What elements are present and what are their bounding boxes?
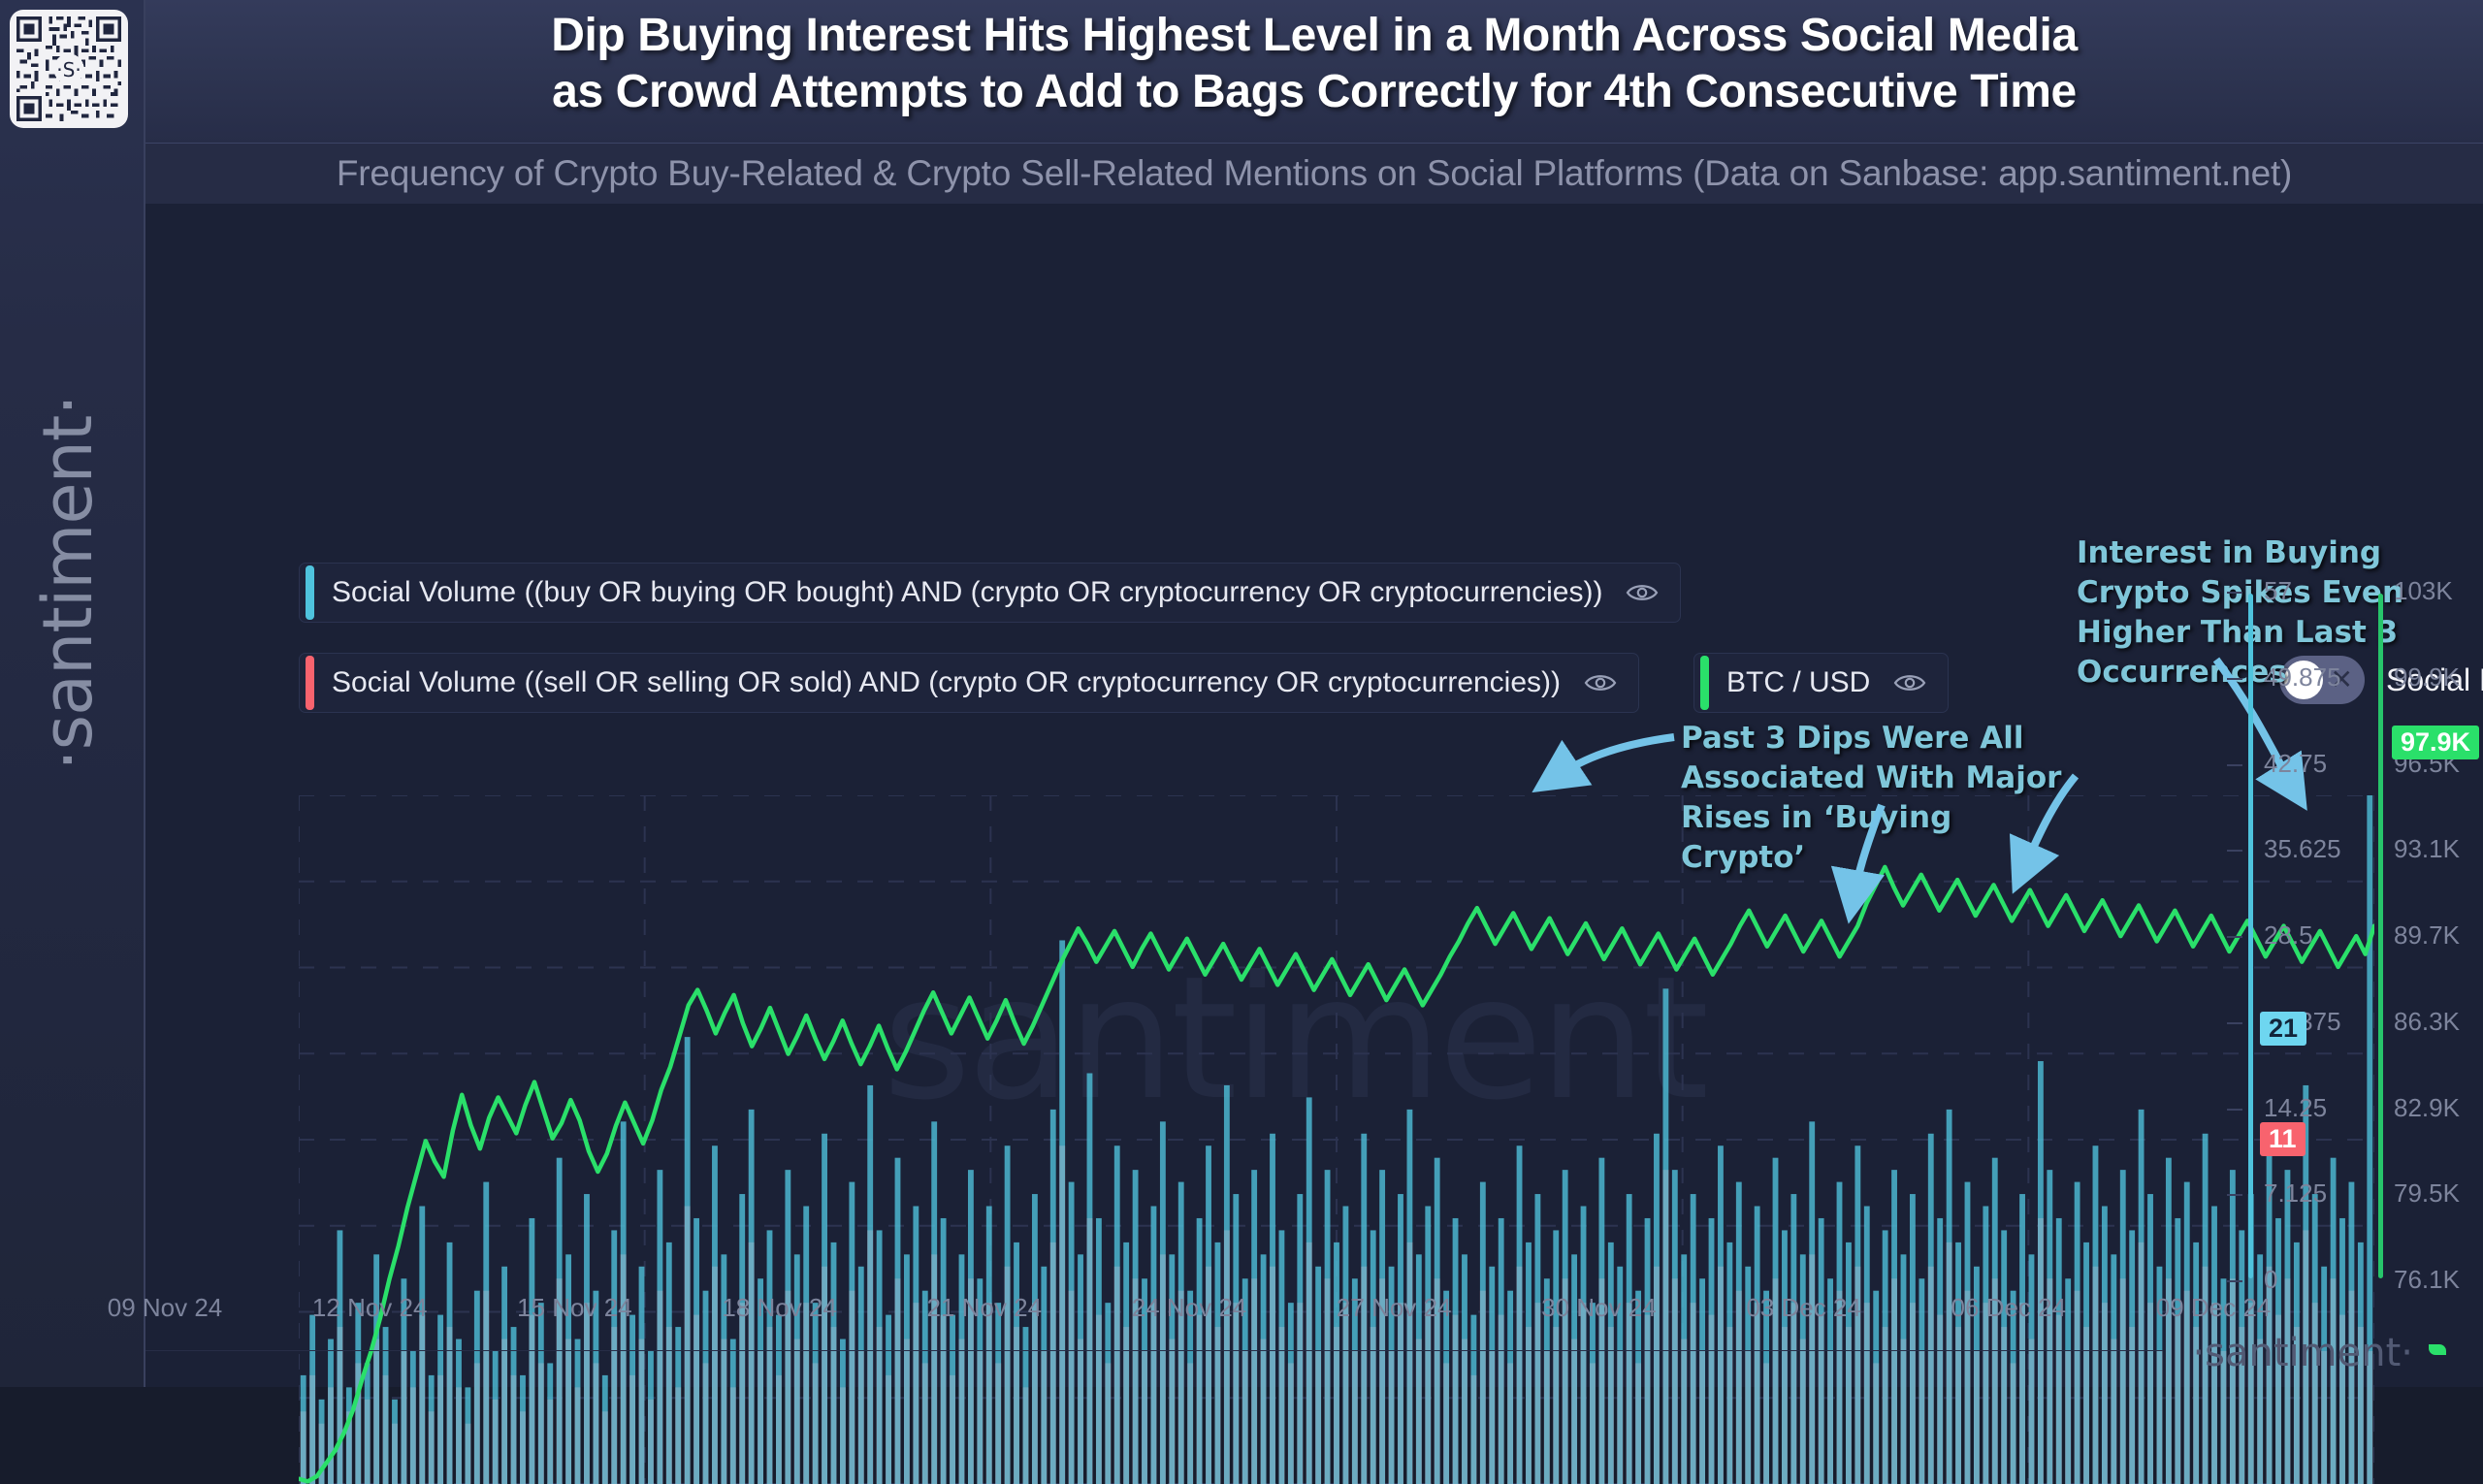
right-axis-tick: 86.3K [2394, 1007, 2460, 1037]
right-axis-tick: 76.1K [2394, 1265, 2460, 1295]
bar [877, 1230, 883, 1484]
bar [392, 1400, 398, 1484]
bar [1133, 1170, 1139, 1484]
bar [1526, 1242, 1532, 1484]
left-axis-line [2248, 594, 2253, 1278]
bar [1928, 1134, 1934, 1484]
bar [456, 1339, 462, 1484]
x-axis-tick: 12 Nov 24 [312, 1293, 428, 1323]
tick-mark [2227, 850, 2242, 852]
tick-mark [2227, 1109, 2242, 1111]
bar [767, 1230, 773, 1484]
bar [1846, 1242, 1852, 1484]
bar [1425, 1207, 1431, 1484]
bar [2147, 1194, 2153, 1484]
bar [1891, 1170, 1897, 1484]
bar [474, 1291, 480, 1484]
left-axis-tick: 28.5 [2264, 920, 2313, 951]
bar [1691, 1194, 1696, 1484]
bar [813, 1303, 819, 1484]
bar [2175, 1218, 2180, 1484]
bar [2367, 795, 2372, 1484]
santiment-leaf-icon [2429, 1344, 2446, 1355]
bar [1343, 1207, 1349, 1484]
bar [373, 1254, 379, 1484]
bar [1571, 1254, 1577, 1484]
bar [1534, 1194, 1540, 1484]
bar [1507, 1291, 1513, 1484]
bar [1288, 1303, 1294, 1484]
bar [1581, 1207, 1587, 1484]
bar [1782, 1230, 1788, 1484]
left-axis-tick: 49.875 [2264, 662, 2341, 693]
bar [1965, 1182, 1971, 1484]
bar [1370, 1230, 1376, 1484]
bar [1087, 1073, 1093, 1484]
x-axis-tick: 09 Nov 24 [108, 1293, 223, 1323]
bar [1105, 1303, 1111, 1484]
bar [1726, 1242, 1732, 1484]
page-title: Dip Buying Interest Hits Highest Level i… [145, 8, 2483, 120]
bar [2285, 1170, 2291, 1484]
bar [648, 1351, 654, 1484]
x-axis-tick: 18 Nov 24 [722, 1293, 837, 1323]
bar [429, 1375, 435, 1484]
bar [2083, 1242, 2089, 1484]
bar [465, 1387, 470, 1484]
x-axis-tick: 30 Nov 24 [1541, 1293, 1657, 1323]
bar [1306, 1097, 1312, 1484]
bar [1279, 1230, 1285, 1484]
bar [2139, 1110, 2144, 1484]
bar [685, 1037, 691, 1484]
left-axis-tick: 35.625 [2264, 834, 2341, 864]
bar [1261, 1254, 1267, 1484]
bar [840, 1339, 846, 1484]
bar [1873, 1291, 1879, 1484]
bar [995, 1303, 1001, 1484]
bar [1883, 1230, 1888, 1484]
bar [1059, 940, 1065, 1484]
legend-swatch-sell [306, 656, 314, 710]
bar [1315, 1267, 1321, 1484]
tick-mark [2227, 678, 2242, 680]
bar [1608, 1242, 1614, 1484]
right-axis-tick: 89.7K [2394, 920, 2460, 951]
tick-mark [2227, 1022, 2242, 1024]
bar [2111, 1254, 2116, 1484]
bar [501, 1267, 507, 1484]
annotation-interest-spike: Interest in Buying Crypto Spikes Even Hi… [2077, 533, 2406, 693]
x-axis-tick: 06 Dec 24 [1951, 1293, 2067, 1323]
bar [629, 1315, 635, 1484]
svg-text:·S·: ·S· [56, 58, 81, 81]
tick-mark [2227, 1194, 2242, 1196]
left-rail: ·S· ·santiment· [0, 0, 145, 1387]
qr-code-icon[interactable]: ·S· [10, 10, 128, 128]
legend-label-btc: BTC / USD [1726, 666, 1870, 699]
x-axis-tick: 27 Nov 24 [1337, 1293, 1452, 1323]
footer-wordmark: ·santiment· [2192, 1331, 2413, 1375]
footer-divider [145, 1350, 2163, 1351]
bar [2001, 1230, 2007, 1484]
bar [547, 1363, 553, 1484]
bar [493, 1351, 499, 1484]
bar [1699, 1278, 1705, 1484]
bar [1837, 1182, 1843, 1484]
bar [2230, 1170, 2236, 1484]
bar [2331, 1158, 2337, 1484]
bar [410, 1351, 416, 1484]
bar [803, 1207, 809, 1484]
bar [1050, 1110, 1056, 1484]
bar [986, 1207, 992, 1484]
legend-item-buy[interactable]: Social Volume ((buy OR buying OR bought)… [299, 563, 1681, 623]
rail-wordmark: ·santiment· [28, 331, 108, 835]
bar [968, 1170, 974, 1484]
bar [1790, 1194, 1796, 1484]
bar [657, 1170, 662, 1484]
chart-panel: santiment Social Volume ((buy OR buying … [145, 204, 2483, 1387]
left-axis-tick: 7.125 [2264, 1178, 2327, 1209]
bar [904, 1254, 910, 1484]
bar [584, 1194, 590, 1484]
bar [2019, 1194, 2025, 1484]
x-axis-tick: 15 Nov 24 [517, 1293, 632, 1323]
bar [365, 1363, 371, 1484]
bar [739, 1194, 745, 1484]
bar [1470, 1315, 1476, 1484]
bar [520, 1375, 526, 1484]
bar [703, 1291, 709, 1484]
bar [721, 1254, 726, 1484]
bar [1681, 1254, 1687, 1484]
bar [2065, 1278, 2071, 1484]
bar [886, 1315, 891, 1484]
right-axis-tick: 103K [2394, 576, 2453, 606]
title-line-1: Dip Buying Interest Hits Highest Level i… [145, 8, 2483, 64]
bar [565, 1254, 571, 1484]
legend-label-sell: Social Volume ((sell OR selling OR sold)… [332, 666, 1561, 699]
bar [1078, 1254, 1083, 1484]
bar [2093, 1145, 2099, 1484]
left-axis-tick: 57 [2264, 576, 2292, 606]
annotation-past-3-dips: Past 3 Dips Were All Associated With Maj… [1681, 719, 2069, 878]
bar [1032, 1194, 1038, 1484]
left-axis-tick: 14.25 [2264, 1093, 2327, 1123]
bar [1178, 1182, 1184, 1484]
bar [1325, 1170, 1331, 1484]
bar [1224, 1085, 1230, 1484]
bar [950, 1315, 955, 1484]
bar [1910, 1194, 1916, 1484]
bar [1334, 1242, 1339, 1484]
tick-mark [2227, 1280, 2242, 1282]
bar [1416, 1254, 1422, 1484]
bar [2129, 1230, 2135, 1484]
bar [483, 1182, 489, 1484]
bar [959, 1254, 965, 1484]
tick-mark [2227, 764, 2242, 766]
x-axis-tick: 09 Dec 24 [2156, 1293, 2272, 1323]
bar [1297, 1194, 1303, 1484]
bar [2038, 1061, 2044, 1484]
bar [2102, 1207, 2108, 1484]
bar [1955, 1242, 1961, 1484]
x-axis-tick: 21 Nov 24 [927, 1293, 1043, 1323]
bar [785, 1170, 790, 1484]
status-badge-sell: 11 [2260, 1122, 2306, 1156]
bar [2184, 1182, 2190, 1484]
bar [849, 1182, 855, 1484]
bar [1662, 988, 1668, 1484]
bar [301, 1375, 306, 1484]
bar [1627, 1194, 1632, 1484]
bar [611, 1230, 617, 1484]
bar [2029, 1254, 2035, 1484]
status-badge-buy: 21 [2260, 1012, 2306, 1046]
bar [730, 1339, 736, 1484]
bar [1014, 1242, 1019, 1484]
bar [1983, 1207, 1988, 1484]
bar [447, 1242, 453, 1484]
page-subtitle: Frequency of Crypto Buy-Related & Crypto… [145, 144, 2483, 204]
bar [1489, 1267, 1495, 1484]
left-axis-tick: 42.75 [2264, 749, 2327, 779]
bar [1041, 1267, 1047, 1484]
arrow-to-dip-1 [1542, 737, 1674, 786]
bar [1718, 1145, 1724, 1484]
bar [1270, 1134, 1275, 1484]
bar [538, 1303, 544, 1484]
legend-item-btc[interactable]: BTC / USD [1693, 653, 1949, 713]
bar [602, 1375, 608, 1484]
bar [2120, 1170, 2126, 1484]
bar [1736, 1182, 1742, 1484]
bar [419, 1207, 425, 1484]
eye-icon[interactable] [1893, 671, 1926, 694]
bar [858, 1267, 864, 1484]
bar [1800, 1254, 1806, 1484]
bar [437, 1315, 443, 1484]
status-badge-btc: 97.9K [2392, 726, 2479, 759]
bar [1553, 1230, 1559, 1484]
right-axis-tick: 99.9K [2394, 662, 2460, 693]
right-axis-tick: 82.9K [2394, 1093, 2460, 1123]
bar [831, 1242, 837, 1484]
bar [1462, 1254, 1467, 1484]
bar [639, 1267, 645, 1484]
bar [913, 1207, 919, 1484]
legend-swatch-btc [1700, 656, 1709, 710]
bar [666, 1242, 672, 1484]
bar [575, 1339, 581, 1484]
eye-icon[interactable] [1626, 581, 1659, 604]
title-line-2: as Crowd Attempts to Add to Bags Correct… [145, 64, 2483, 120]
bar [2047, 1170, 2052, 1484]
bar [346, 1387, 352, 1484]
bar [1233, 1194, 1239, 1484]
bar [1755, 1207, 1760, 1484]
chart-svg [299, 795, 2374, 1484]
x-axis-tick: 24 Nov 24 [1132, 1293, 1247, 1323]
tick-mark [2227, 936, 2242, 938]
bar [712, 1145, 718, 1484]
bar [776, 1315, 782, 1484]
bar [895, 1158, 901, 1484]
bar [1215, 1242, 1221, 1484]
bar [867, 1085, 873, 1484]
bar [1251, 1170, 1257, 1484]
bar [309, 1315, 315, 1484]
right-axis-tick: 79.5K [2394, 1178, 2460, 1209]
bar [1864, 1207, 1870, 1484]
bar [1169, 1254, 1175, 1484]
bar [1069, 1182, 1075, 1484]
legend-swatch-buy [306, 565, 314, 620]
bar [1114, 1145, 1120, 1484]
legend-label-buy: Social Volume ((buy OR buying OR bought)… [332, 576, 1602, 609]
legend-item-sell[interactable]: Social Volume ((sell OR selling OR sold)… [299, 653, 1639, 713]
bar [2075, 1182, 2080, 1484]
tick-mark [2227, 592, 2242, 594]
bar [1672, 1170, 1678, 1484]
bar [1123, 1242, 1129, 1484]
subtitle-bar: Frequency of Crypto Buy-Related & Crypto… [145, 144, 2483, 204]
header: Dip Buying Interest Hits Highest Level i… [145, 0, 2483, 144]
bar [1901, 1254, 1907, 1484]
bar [1563, 1170, 1568, 1484]
left-axis-tick: 0 [2264, 1265, 2277, 1295]
eye-icon[interactable] [1584, 671, 1617, 694]
bar [1151, 1207, 1157, 1484]
bar [1480, 1182, 1486, 1484]
x-axis-tick: 03 Dec 24 [1746, 1293, 1861, 1323]
right-axis-line [2378, 594, 2383, 1278]
right-axis-tick: 93.1K [2394, 834, 2460, 864]
bar [1379, 1170, 1385, 1484]
bar [1590, 1303, 1596, 1484]
bar [1919, 1278, 1924, 1484]
chart-plot-area[interactable] [299, 795, 2374, 1484]
bar [794, 1254, 800, 1484]
bar [1517, 1145, 1523, 1484]
bar [1398, 1194, 1403, 1484]
